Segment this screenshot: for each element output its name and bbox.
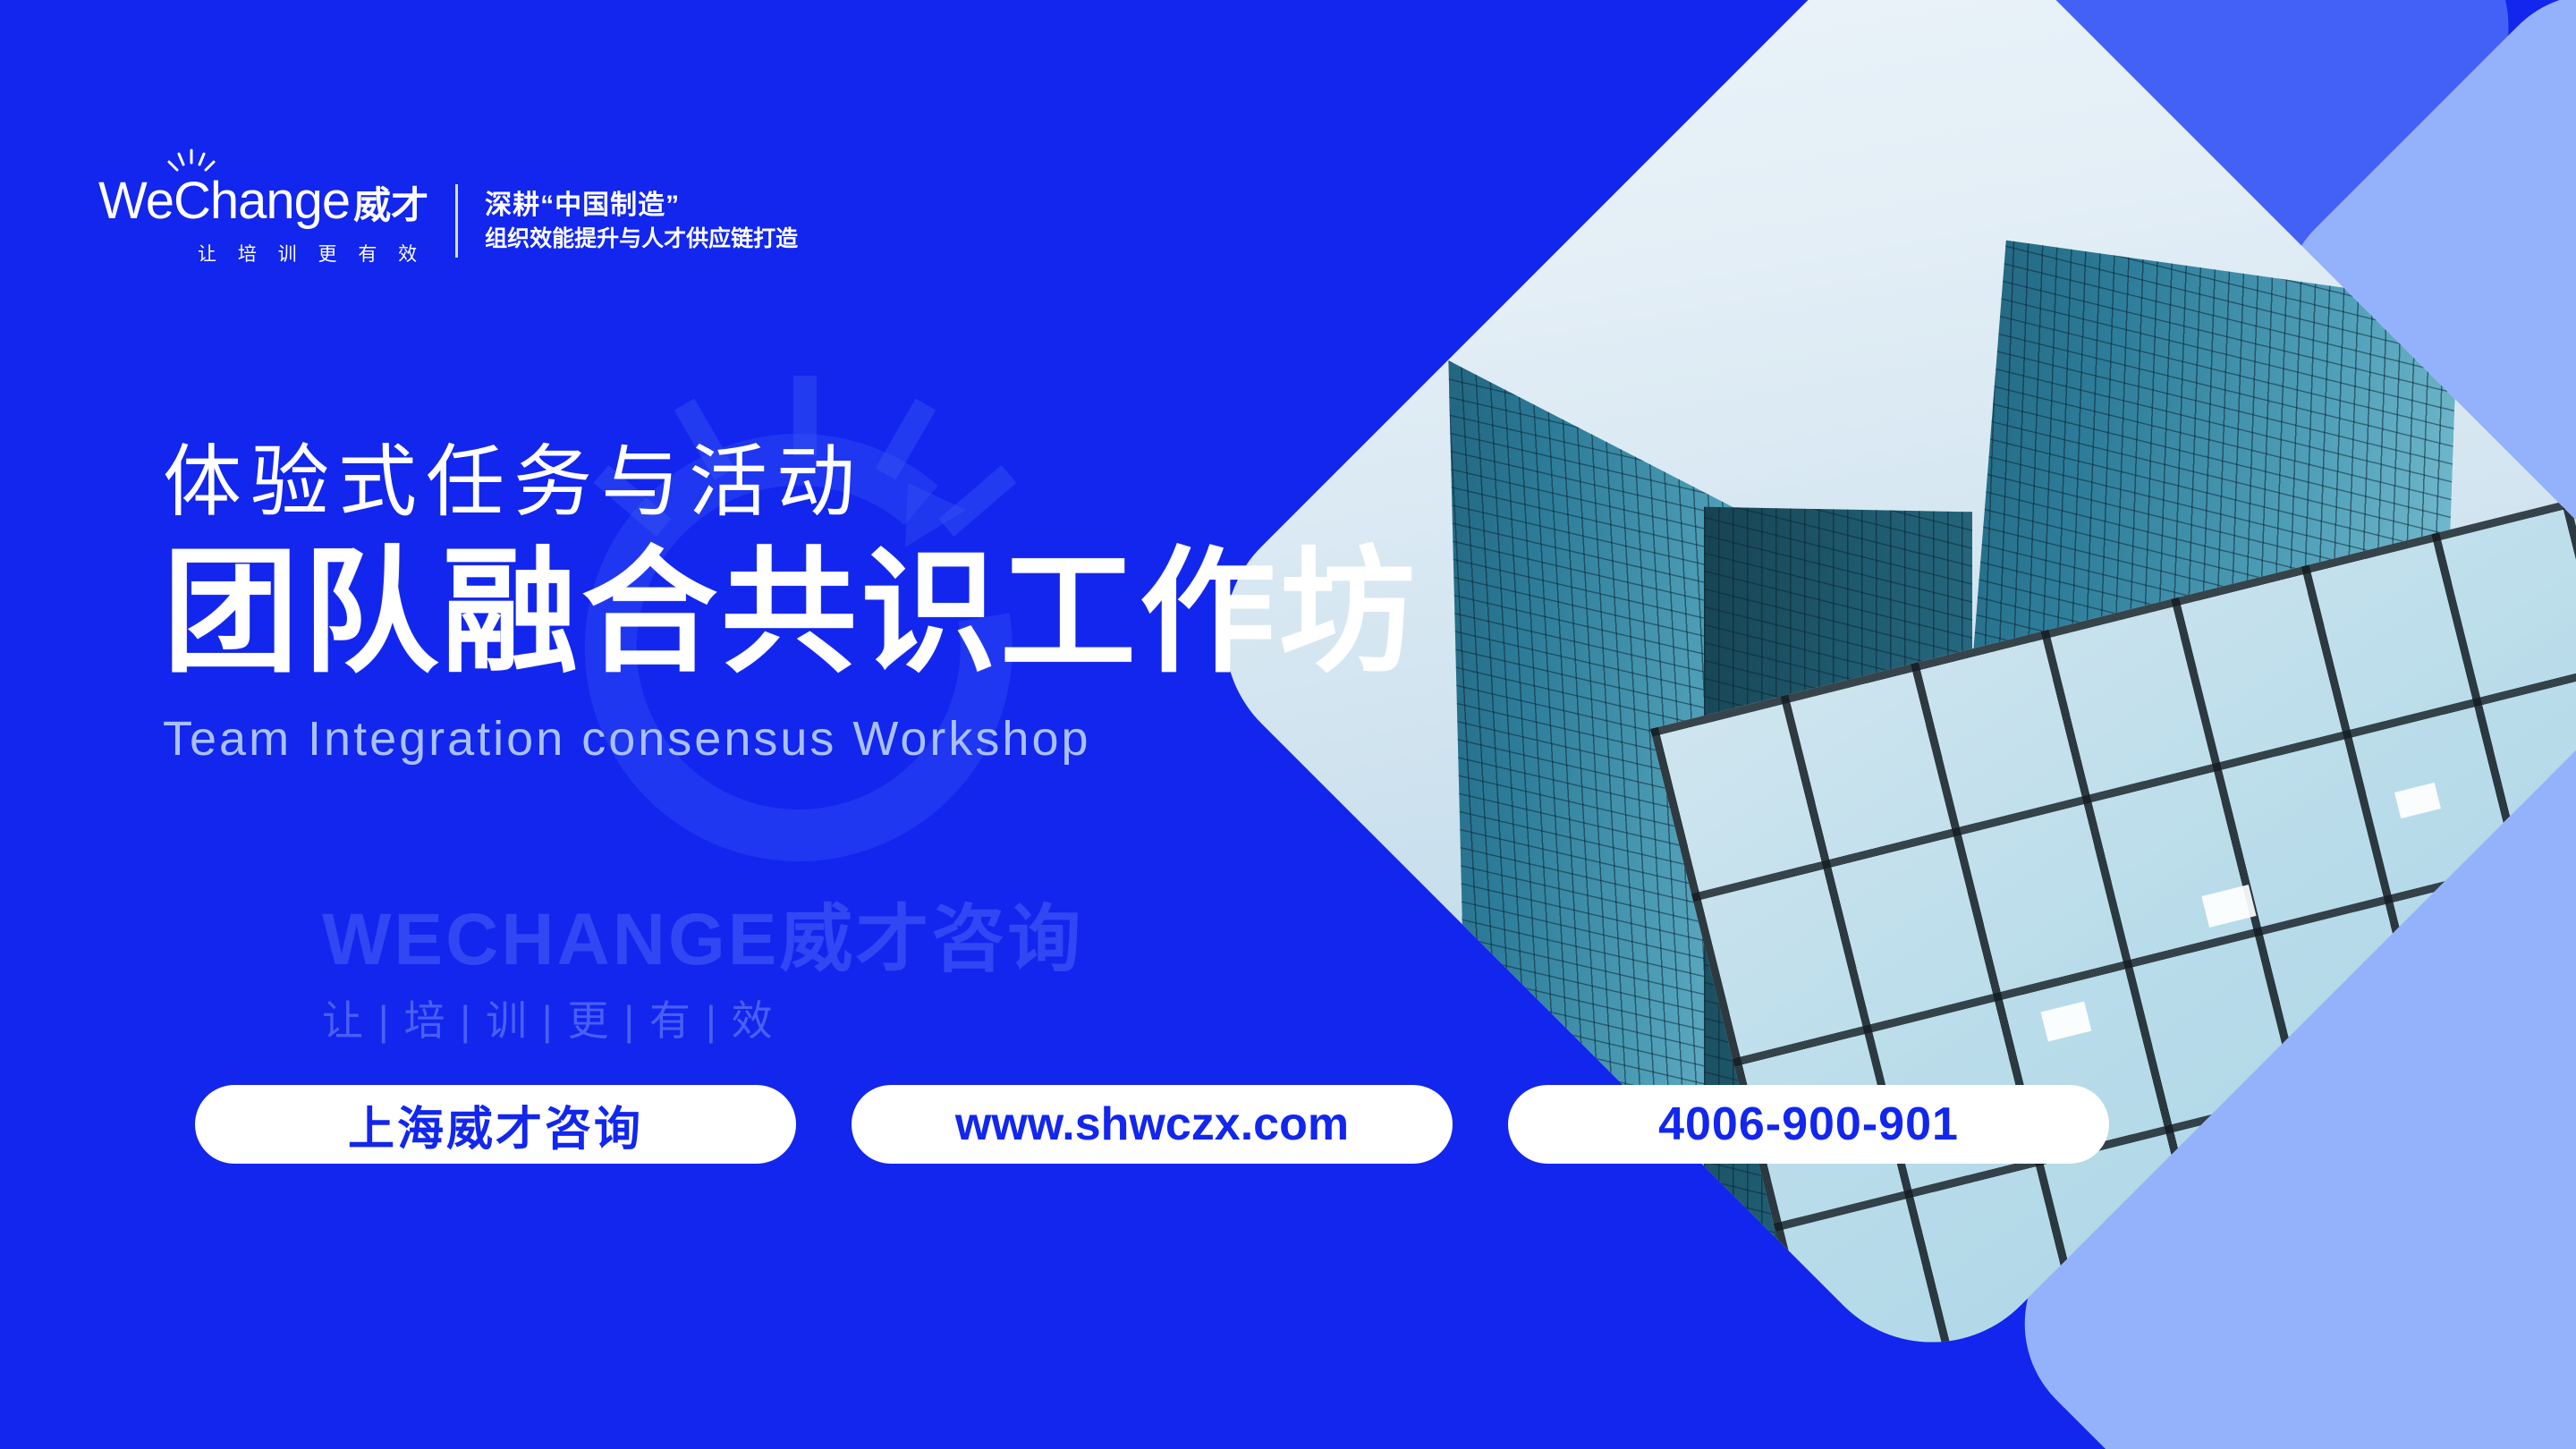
logo-text-we: We: [98, 175, 174, 227]
hero-text-block: 体验式任务与活动 团队融合共识工作坊 Team Integration cons…: [163, 438, 1419, 766]
contact-pill-row: 上海威才咨询 www.shwczx.com 4006-900-901: [195, 1085, 2109, 1164]
logo-left-group: We C hange 威才 让 培 训: [98, 175, 428, 267]
logo-c-with-rays: C: [174, 175, 210, 227]
promotional-banner: We C hange 威才 让 培 训: [0, 0, 2576, 1449]
photo-glass-highlight: [2470, 935, 2514, 969]
hero-headline: 团队融合共识工作坊: [163, 539, 1419, 686]
logo-right-group: 深耕“中国制造” 组织效能提升与人才供应链打造: [485, 192, 798, 250]
sun-rays-icon: [163, 148, 220, 179]
watermark-brand-name: WECHANGE威才咨询: [322, 903, 1083, 977]
logo-text-c: C: [174, 172, 210, 230]
brand-logo-lockup[interactable]: We C hange 威才 让 培 训: [98, 175, 798, 267]
pill-phone-number[interactable]: 4006-900-901: [1508, 1085, 2109, 1164]
logo-text-hange: hange: [210, 175, 350, 227]
hero-subhead-english: Team Integration consensus Workshop: [163, 713, 1419, 766]
pill-company-name[interactable]: 上海威才咨询: [195, 1085, 796, 1164]
watermark-slogan: 让 | 培 | 训 | 更 | 有 | 效: [322, 1000, 1083, 1041]
logo-slogan-secondary: 组织效能提升与人才供应链打造: [485, 228, 798, 250]
pill-website-url[interactable]: www.shwczx.com: [852, 1085, 1453, 1164]
logo-wordmark: We C hange 威才: [98, 175, 428, 227]
logo-text-chinese: 威才: [353, 187, 428, 225]
hero-eyebrow: 体验式任务与活动: [163, 438, 1419, 527]
background-text-watermark: WECHANGE威才咨询 让 | 培 | 训 | 更 | 有 | 效: [322, 903, 1083, 1041]
logo-tagline: 让 培 训 更 有 效: [98, 240, 428, 267]
decorative-diamond-light-4: [2410, 1050, 2576, 1449]
logo-divider: [455, 184, 458, 258]
logo-slogan-primary: 深耕“中国制造”: [485, 192, 798, 219]
